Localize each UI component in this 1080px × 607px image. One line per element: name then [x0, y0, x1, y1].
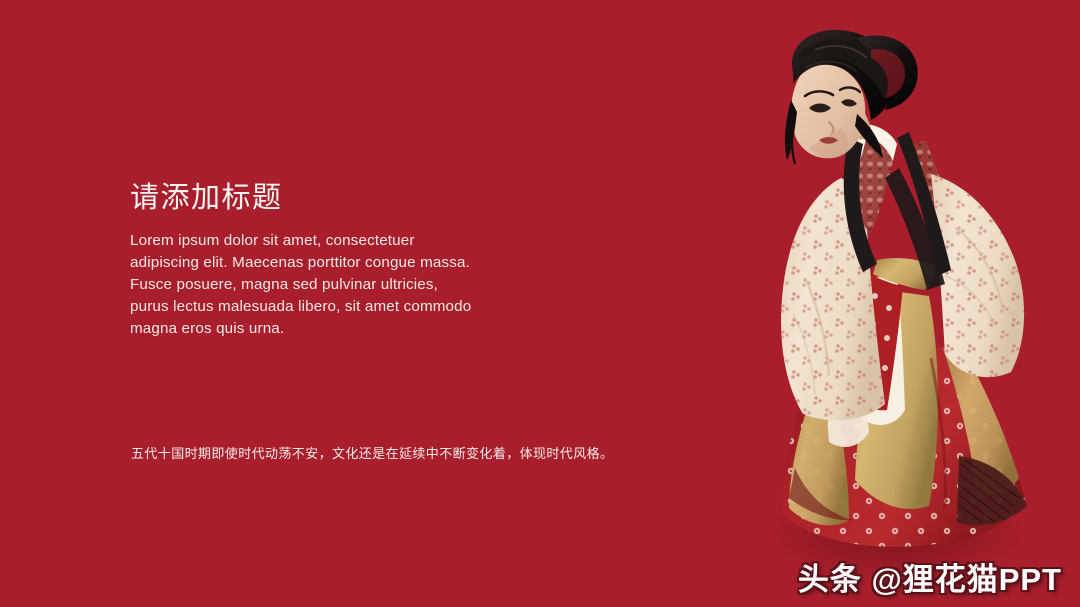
skirt-train — [782, 290, 1027, 547]
body-line: adipiscing elit. Maecenas porttitor cong… — [130, 252, 590, 274]
body-line: Fusce posuere, magna sed pulvinar ultric… — [130, 274, 590, 296]
outer-robe — [781, 174, 1024, 420]
slide-canvas: 请添加标题 Lorem ipsum dolor sit amet, consec… — [0, 0, 1080, 607]
page-title: 请添加标题 — [130, 180, 590, 216]
hair-updo — [785, 30, 918, 164]
slide-text-block: 请添加标题 Lorem ipsum dolor sit amet, consec… — [130, 180, 590, 340]
body-line: magna eros quis urna. — [130, 318, 590, 340]
watermark: 头条 @狸花猫PPT — [798, 554, 1062, 599]
body-line: Lorem ipsum dolor sit amet, consectetuer — [130, 230, 590, 252]
under-robe — [828, 276, 905, 447]
slide-caption: 五代十国时期即使时代动荡不安，文化还是在延续中不断变化着，体现时代风格。 — [131, 444, 613, 463]
crossed-collar — [844, 124, 951, 290]
body-line: purus lectus malesuada libero, sit amet … — [130, 296, 590, 318]
hanfu-woman-figure — [745, 28, 1055, 588]
waist-sash — [861, 140, 959, 410]
body-paragraph: Lorem ipsum dolor sit amet, consectetuer… — [130, 230, 590, 340]
pleated-fan — [957, 456, 1027, 525]
head-and-neck — [791, 64, 873, 159]
